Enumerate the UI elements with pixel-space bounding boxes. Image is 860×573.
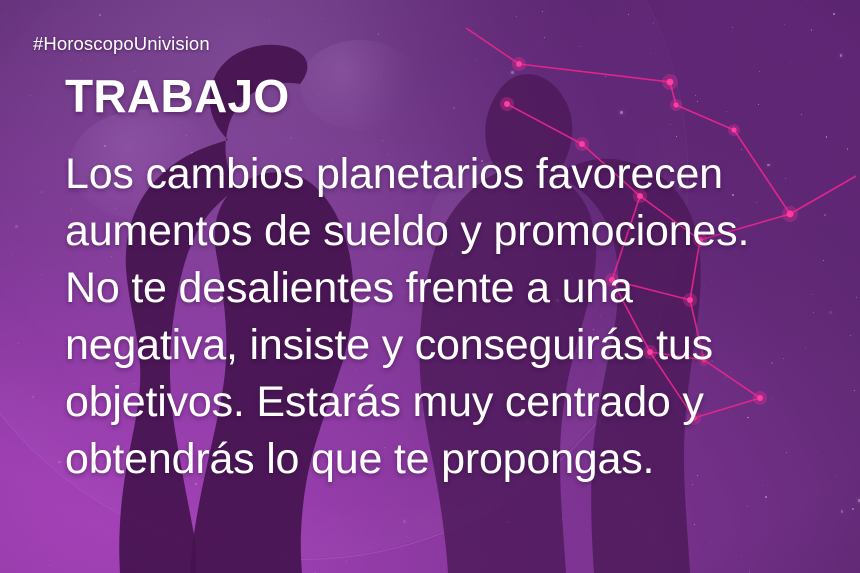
horoscope-body-line: aumentos de sueldo y promociones. xyxy=(65,203,855,260)
horoscope-card: #HoroscopoUnivision TRABAJO Los cambios … xyxy=(0,0,860,573)
horoscope-body-line: negativa, insiste y conseguirás tus xyxy=(65,317,855,374)
hashtag-label: #HoroscopoUnivision xyxy=(33,33,210,55)
text-content: #HoroscopoUnivision TRABAJO Los cambios … xyxy=(0,0,860,573)
page-title: TRABAJO xyxy=(65,73,289,119)
horoscope-body-line: obtendrás lo que te propongas. xyxy=(65,431,855,488)
horoscope-body-line: objetivos. Estarás muy centrado y xyxy=(65,374,855,431)
horoscope-body-text: Los cambios planetarios favorecenaumento… xyxy=(65,146,855,488)
horoscope-body-line: Los cambios planetarios favorecen xyxy=(65,146,855,203)
horoscope-body-line: No te desalientes frente a una xyxy=(65,260,855,317)
